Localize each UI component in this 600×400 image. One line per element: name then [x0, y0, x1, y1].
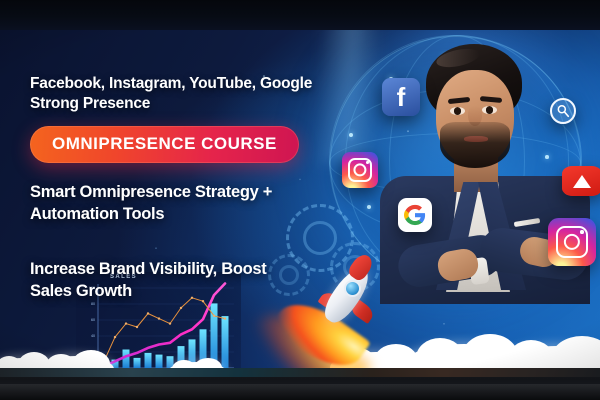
- search-icon[interactable]: [550, 98, 576, 124]
- subheadline-2-line-1: Increase Brand Visibility, Boost: [30, 258, 360, 280]
- youtube-play-glyph: [573, 175, 591, 188]
- instagram-icon[interactable]: [548, 218, 596, 266]
- subheadline-1-line-1: Smart Omnipresence Strategy +: [30, 181, 360, 203]
- facebook-glyph: f: [397, 82, 406, 113]
- subheadline-2-line-2: Sales Growth: [30, 280, 360, 302]
- facebook-icon[interactable]: f: [382, 78, 420, 116]
- poster-screen: f: [0, 0, 600, 400]
- headline-line-1: Facebook, Instagram, YouTube, Google: [30, 74, 360, 94]
- svg-text:80: 80: [91, 302, 95, 306]
- headline: Facebook, Instagram, YouTube, Google Str…: [30, 74, 360, 114]
- subheadline-2: Increase Brand Visibility, Boost Sales G…: [30, 258, 360, 302]
- youtube-icon[interactable]: [562, 166, 600, 196]
- screen-bezel-bottom: [0, 368, 600, 400]
- subheadline-1-line-2: Automation Tools: [30, 203, 360, 225]
- google-glyph: [404, 204, 426, 226]
- google-icon[interactable]: [398, 198, 432, 232]
- poster-artwork: f: [0, 28, 600, 372]
- copy-block: Facebook, Instagram, YouTube, Google Str…: [30, 74, 360, 302]
- subheadline-1: Smart Omnipresence Strategy + Automation…: [30, 181, 360, 225]
- course-badge[interactable]: OMNIPRESENCE COURSE: [30, 126, 299, 163]
- search-glyph: [556, 104, 570, 118]
- screen-bezel-top: [0, 0, 600, 30]
- instagram-glyph: [556, 226, 588, 258]
- headline-line-2: Strong Presence: [30, 94, 360, 114]
